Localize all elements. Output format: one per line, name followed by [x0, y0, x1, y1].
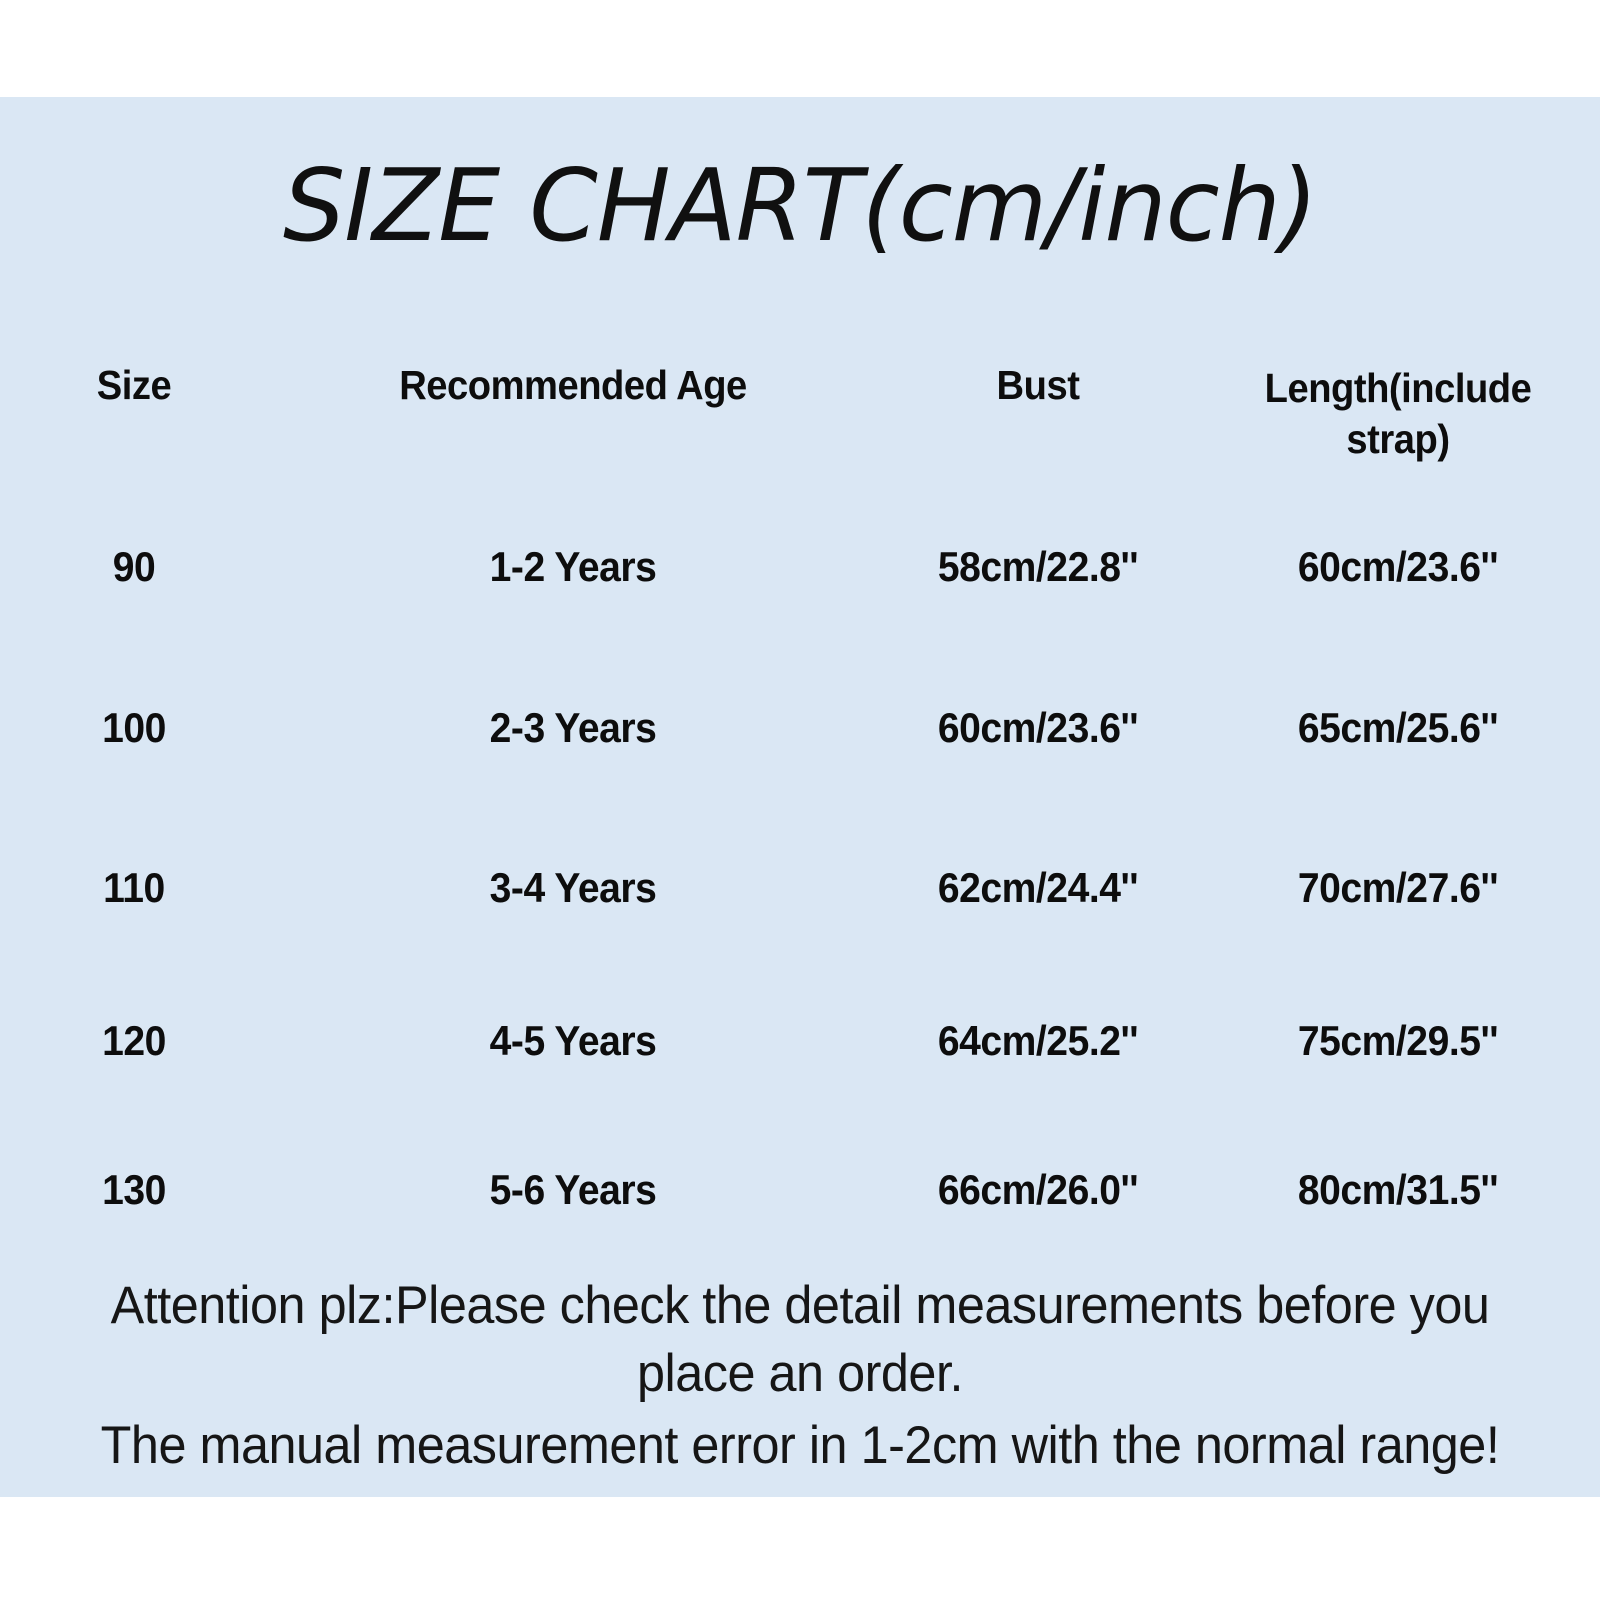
cell-length: 75cm/29.5'' [1231, 1017, 1566, 1064]
cell-size: 130 [9, 1166, 258, 1213]
column-header-length-line1: Length(include [1265, 363, 1532, 414]
column-header-length-line2: strap) [1265, 414, 1532, 465]
cell-size: 110 [9, 864, 258, 911]
size-chart-table: Size Recommended Age Bust Length(include… [0, 355, 1600, 1255]
table-row: 90 1-2 Years 58cm/22.8'' 60cm/23.6'' [0, 532, 1600, 602]
table-row: 130 5-6 Years 66cm/26.0'' 80cm/31.5'' [0, 1155, 1600, 1225]
attention-notes: Attention plz:Please check the detail me… [0, 1272, 1600, 1479]
cell-length: 65cm/25.6'' [1231, 704, 1566, 751]
cell-length: 70cm/27.6'' [1231, 864, 1566, 911]
table-row: 110 3-4 Years 62cm/24.4'' 70cm/27.6'' [0, 853, 1600, 923]
cell-age: 5-6 Years [373, 1166, 773, 1213]
note-measurement-error: The manual measurement error in 1-2cm wi… [40, 1412, 1560, 1480]
cell-length: 80cm/31.5'' [1231, 1166, 1566, 1213]
size-chart-image: SIZE CHART(cm/inch) Size Recommended Age… [0, 0, 1600, 1600]
table-row: 120 4-5 Years 64cm/25.2'' 75cm/29.5'' [0, 1006, 1600, 1076]
cell-length: 60cm/23.6'' [1231, 543, 1566, 590]
cell-age: 3-4 Years [373, 864, 773, 911]
cell-size: 120 [9, 1017, 258, 1064]
cell-bust: 66cm/26.0'' [899, 1166, 1178, 1213]
cell-age: 1-2 Years [373, 543, 773, 590]
cell-bust: 62cm/24.4'' [899, 864, 1178, 911]
table-header-row: Size Recommended Age Bust Length(include… [0, 355, 1600, 465]
cell-bust: 64cm/25.2'' [899, 1017, 1178, 1064]
column-header-size: Size [9, 355, 258, 465]
cell-age: 2-3 Years [373, 704, 773, 751]
page-title: SIZE CHART(cm/inch) [16, 140, 1584, 270]
cell-size: 100 [9, 704, 258, 751]
cell-bust: 58cm/22.8'' [899, 543, 1178, 590]
cell-bust: 60cm/23.6'' [899, 704, 1178, 751]
column-header-length: Length(include strap) [1231, 355, 1566, 465]
column-header-bust: Bust [899, 355, 1178, 465]
column-header-age: Recommended Age [373, 355, 773, 465]
cell-age: 4-5 Years [373, 1017, 773, 1064]
cell-size: 90 [9, 543, 258, 590]
table-row: 100 2-3 Years 60cm/23.6'' 65cm/25.6'' [0, 693, 1600, 763]
note-attention: Attention plz:Please check the detail me… [40, 1272, 1560, 1408]
